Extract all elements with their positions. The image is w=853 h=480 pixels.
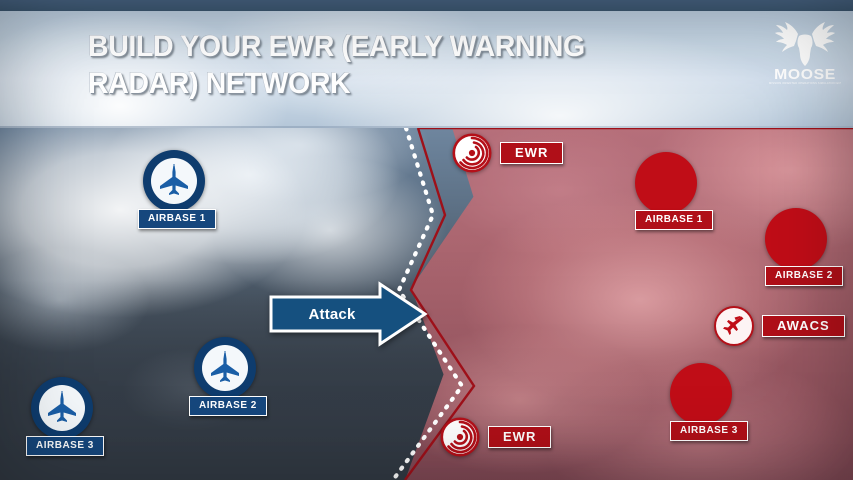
attack-arrow[interactable]: Attack (268, 281, 428, 347)
airbase-circle (194, 337, 256, 399)
unit-label: AIRBASE 2 (189, 396, 267, 416)
fighter-jet-icon (208, 351, 242, 385)
airbase-circle (31, 377, 93, 439)
unit-label: AIRBASE 3 (670, 421, 748, 441)
unit-label: AIRBASE 3 (26, 436, 104, 456)
radar-concentric-icon (452, 133, 492, 173)
unit-label: AIRBASE 1 (635, 210, 713, 230)
airbase-inner-disc (202, 345, 248, 391)
unit-label: EWR (500, 142, 563, 164)
airbase-inner-disc (151, 158, 197, 204)
radar-concentric-icon (440, 417, 480, 457)
unit-red-airbase-3[interactable]: AIRBASE 3 (670, 363, 748, 441)
moose-logo: MOOSE MISSION ORIENTED OPERATIONS SIMULA… (769, 14, 841, 92)
unit-red-ewr-1[interactable]: EWR (452, 133, 563, 173)
moose-wordmark: MOOSE (767, 67, 843, 82)
unit-red-awacs[interactable]: AWACS (714, 306, 845, 346)
fighter-jet-icon (45, 391, 79, 425)
unit-blue-airbase-2[interactable]: AIRBASE 2 (194, 337, 267, 416)
moose-antlers-skull-icon (775, 14, 835, 66)
unit-blue-airbase-1[interactable]: AIRBASE 1 (143, 150, 216, 229)
unit-label: AIRBASE 1 (138, 209, 216, 229)
fighter-jet-icon (157, 164, 191, 198)
unit-red-airbase-1[interactable]: AIRBASE 1 (635, 152, 713, 230)
unit-label: AIRBASE 2 (765, 266, 843, 286)
unit-blue-airbase-3[interactable]: AIRBASE 3 (31, 377, 104, 456)
unit-label: EWR (488, 426, 551, 448)
red-disc-icon (765, 208, 827, 270)
page-title: BUILD YOUR EWR (EARLY WARNING RADAR) NET… (88, 28, 677, 102)
red-disc-icon (670, 363, 732, 425)
right-arrow-icon (268, 281, 428, 347)
airbase-inner-disc (39, 385, 85, 431)
unit-red-ewr-2[interactable]: EWR (440, 417, 551, 457)
header-underline (0, 126, 853, 128)
awacs-aircraft-icon (714, 306, 754, 346)
unit-red-airbase-2[interactable]: AIRBASE 2 (765, 208, 843, 286)
unit-label: AWACS (762, 315, 845, 337)
top-accent-strip (0, 0, 853, 11)
airbase-circle (143, 150, 205, 212)
red-disc-icon (635, 152, 697, 214)
slide-canvas: BUILD YOUR EWR (EARLY WARNING RADAR) NET… (0, 0, 853, 480)
